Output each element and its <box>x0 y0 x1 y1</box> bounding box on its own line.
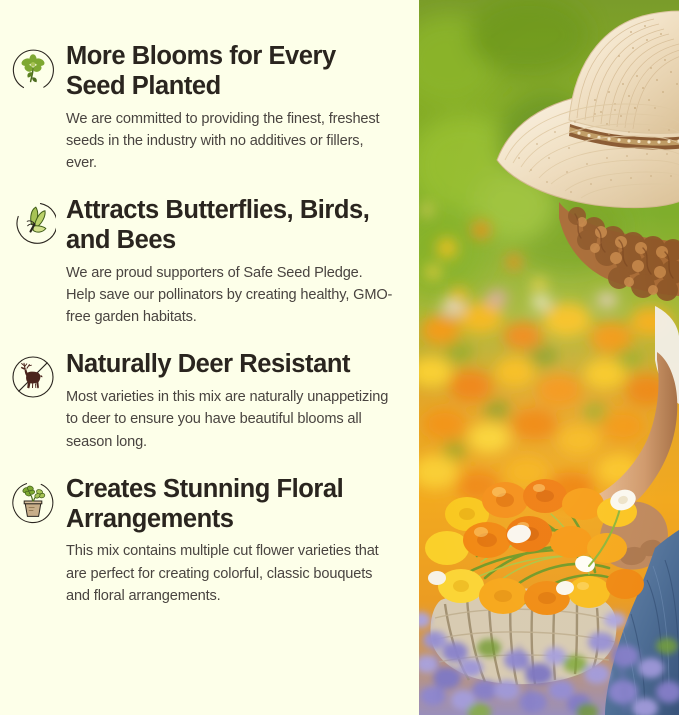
lifestyle-photo <box>419 0 679 715</box>
feature-description: We are proud supporters of Safe Seed Ple… <box>66 262 395 329</box>
feature-panel-page: More Blooms for Every Seed Planted We ar… <box>0 0 679 715</box>
feature-icon-container <box>0 350 66 400</box>
feature-icon-container <box>0 475 66 525</box>
feature-text-block: More Blooms for Every Seed Planted We ar… <box>66 42 411 174</box>
feature-item: Attracts Butterflies, Birds, and Bees We… <box>0 196 411 328</box>
feature-icon-container <box>0 196 66 246</box>
feature-text-block: Attracts Butterflies, Birds, and Bees We… <box>66 196 411 328</box>
feature-text-block: Naturally Deer Resistant Most varieties … <box>66 350 411 452</box>
features-panel: More Blooms for Every Seed Planted We ar… <box>0 0 419 715</box>
feature-title: Attracts Butterflies, Birds, and Bees <box>66 196 395 256</box>
feature-item: Naturally Deer Resistant Most varieties … <box>0 350 411 452</box>
feature-item: Creates Stunning Floral Arrangements Thi… <box>0 475 411 607</box>
flower-sprout-icon <box>10 46 56 92</box>
feature-item: More Blooms for Every Seed Planted We ar… <box>0 42 411 174</box>
feature-title: Creates Stunning Floral Arrangements <box>66 475 395 535</box>
feature-text-block: Creates Stunning Floral Arrangements Thi… <box>66 475 411 607</box>
feature-description: We are committed to providing the finest… <box>66 108 395 175</box>
butterfly-icon <box>10 200 56 246</box>
no-deer-icon <box>10 354 56 400</box>
feature-title: Naturally Deer Resistant <box>66 350 395 380</box>
feature-description: Most varieties in this mix are naturally… <box>66 386 395 453</box>
potted-plant-icon <box>10 479 56 525</box>
feature-title: More Blooms for Every Seed Planted <box>66 42 395 102</box>
feature-description: This mix contains multiple cut flower va… <box>66 540 395 607</box>
feature-icon-container <box>0 42 66 92</box>
